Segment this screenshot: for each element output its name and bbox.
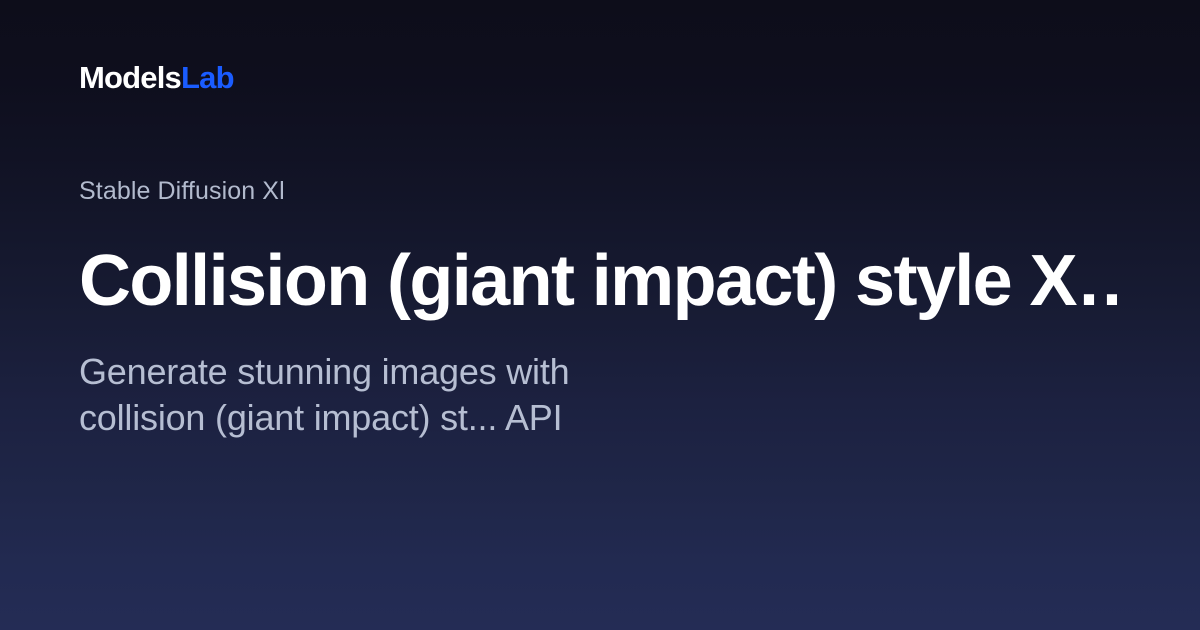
description-line-2: collision (giant impact) st... API xyxy=(79,395,699,441)
og-preview-card: ModelsLab Stable Diffusion Xl Collision … xyxy=(0,0,1200,630)
description-line-1: Generate stunning images with xyxy=(79,349,699,395)
page-title: Collision (giant impact) style X… xyxy=(79,243,1119,321)
logo-text-models: Models xyxy=(79,62,181,93)
model-category-label: Stable Diffusion Xl xyxy=(79,176,1119,207)
modelslab-logo[interactable]: ModelsLab xyxy=(79,62,234,93)
page-description: Generate stunning images with collision … xyxy=(79,349,699,441)
card-content: Stable Diffusion Xl Collision (giant imp… xyxy=(79,176,1119,441)
logo-text-lab: Lab xyxy=(181,62,234,93)
